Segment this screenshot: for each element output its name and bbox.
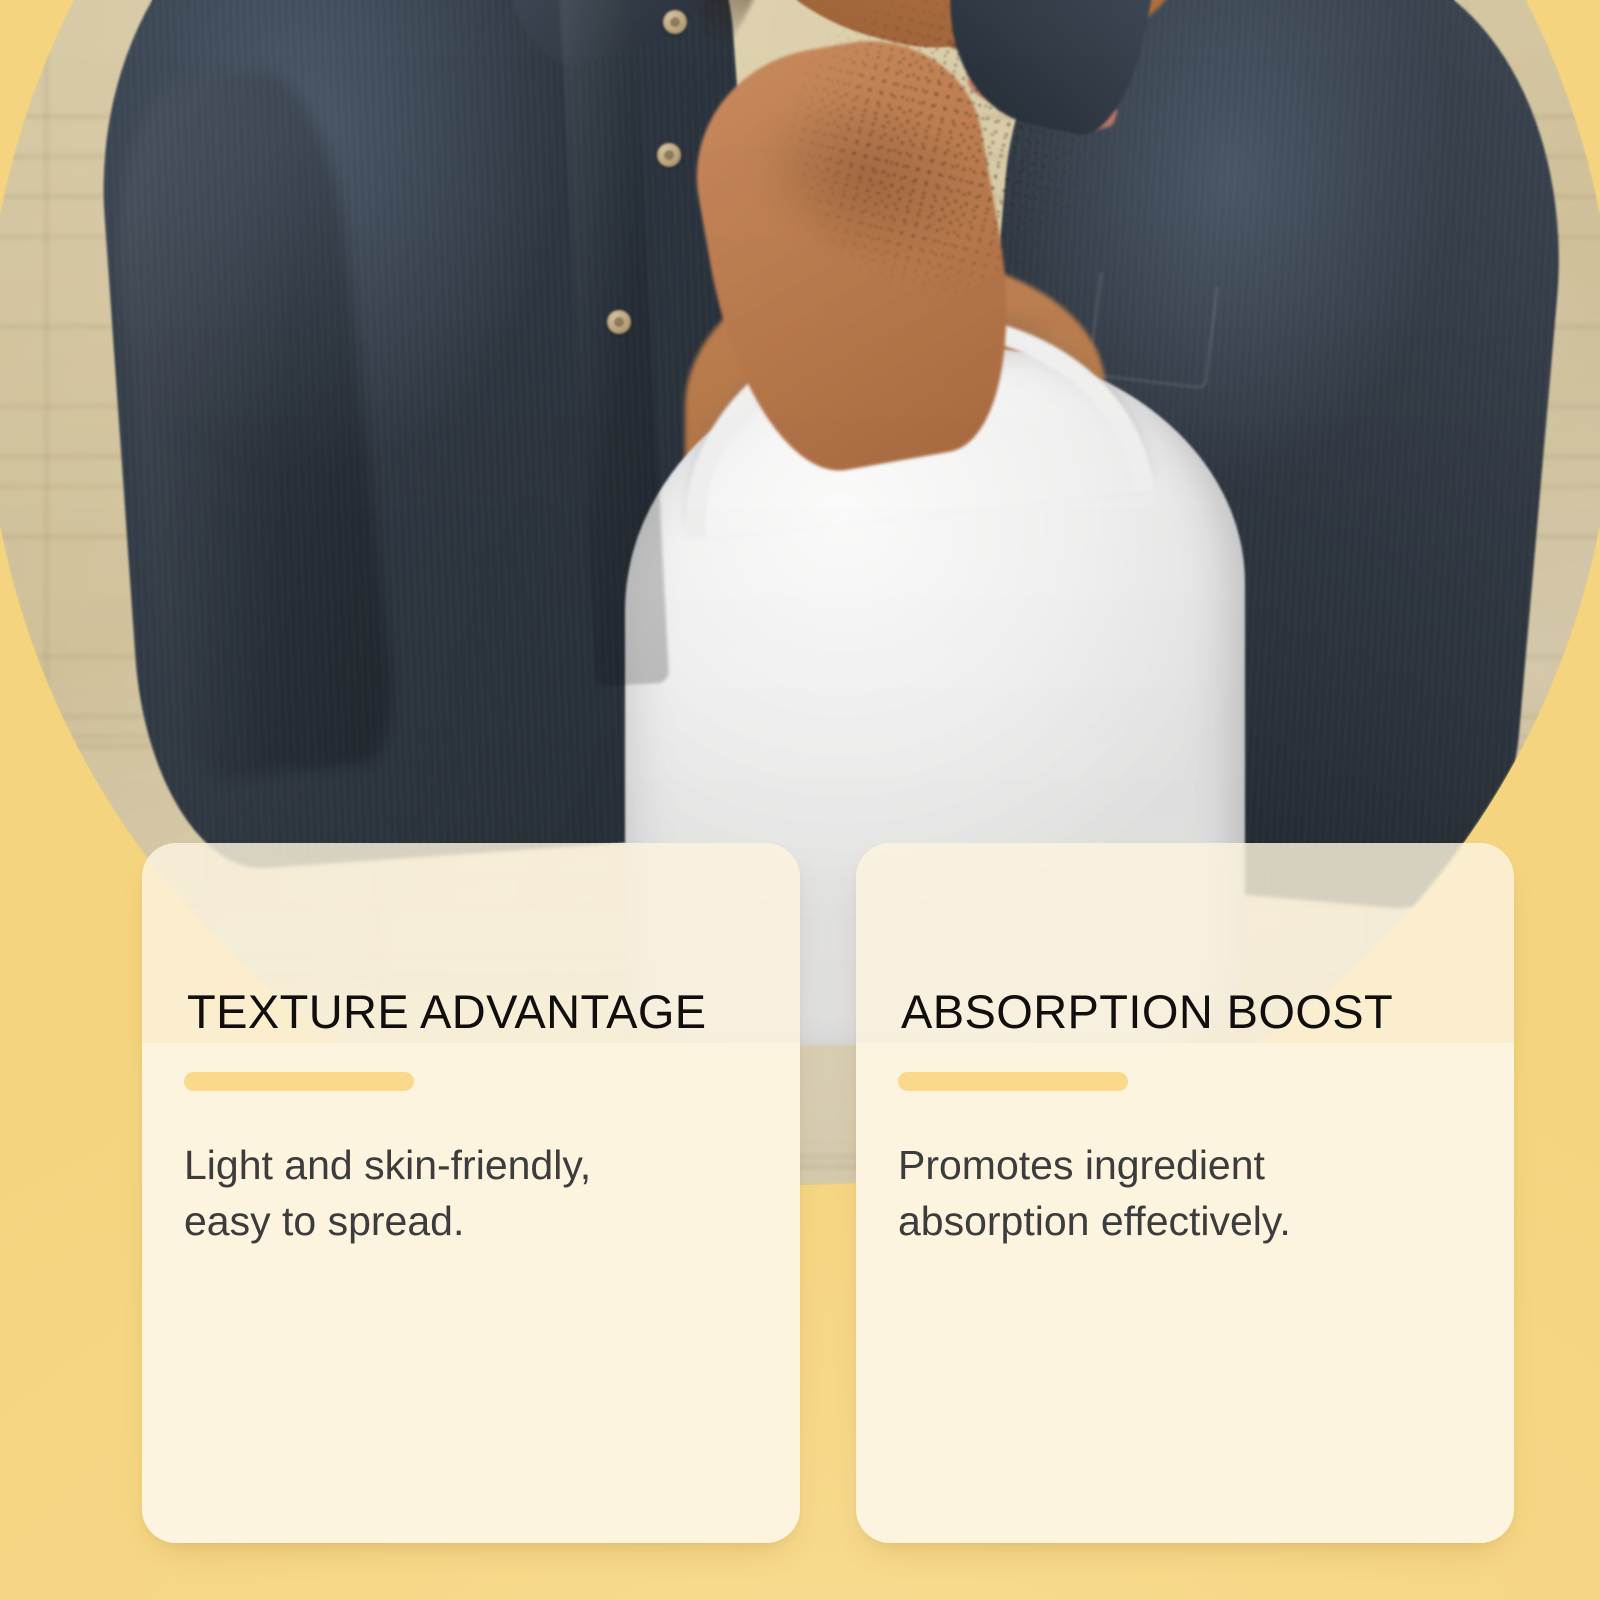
benefit-card-absorption-boost[interactable]: ABSORPTION BOOST Promotes ingredient abs… xyxy=(856,843,1514,1543)
card-body-text: Light and skin-friendly, easy to spread. xyxy=(184,1138,704,1250)
benefit-card-texture-advantage[interactable]: TEXTURE ADVANTAGE Light and skin-friendl… xyxy=(142,843,800,1543)
benefit-card-group: TEXTURE ADVANTAGE Light and skin-friendl… xyxy=(142,843,1514,1543)
card-title: ABSORPTION BOOST xyxy=(901,988,1472,1035)
title-accent-rule xyxy=(184,1072,414,1091)
card-body-text: Promotes ingredient absorption effective… xyxy=(898,1138,1418,1250)
poster-canvas: TEXTURE ADVANTAGE Light and skin-friendl… xyxy=(0,0,1600,1600)
card-title: TEXTURE ADVANTAGE xyxy=(187,988,758,1035)
shirt-button xyxy=(607,310,631,334)
shirt-button xyxy=(663,10,687,34)
title-accent-rule xyxy=(898,1072,1128,1091)
shirt-button xyxy=(657,143,681,167)
